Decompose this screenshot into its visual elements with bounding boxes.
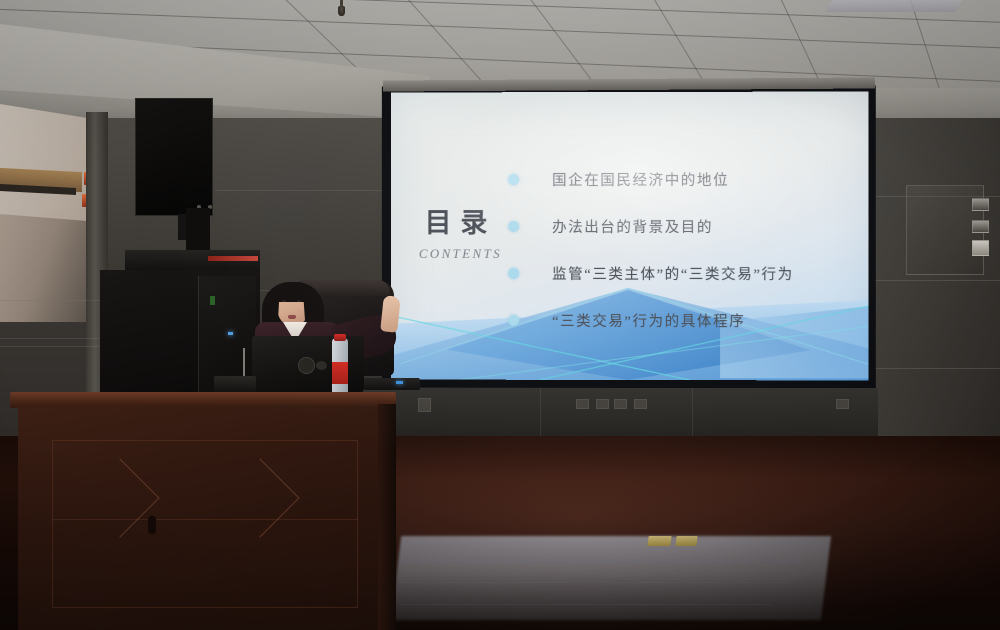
av-rack-top (125, 250, 260, 272)
bullet-dot-icon (508, 315, 519, 326)
power-led-icon (210, 296, 215, 305)
wall-outlet-plate[interactable] (972, 240, 989, 256)
podium-side (378, 404, 396, 630)
list-item: “三类交易”行为的具体程序 (508, 297, 869, 344)
slide-heading-cn: 目录 (413, 210, 509, 237)
right-wall (874, 118, 1000, 436)
bullet-dot-icon (508, 174, 519, 185)
status-led-icon (228, 332, 233, 335)
speaker-bracket (178, 214, 186, 240)
sprinkler-head-icon (338, 6, 345, 16)
wall-mounted-speaker (135, 98, 213, 216)
projected-slide: 目录 CONTENTS 国企在国民经济中的地位 办法出台的背景及目的 监管“三类… (391, 92, 869, 381)
wall-switch-panel[interactable] (972, 220, 989, 233)
hanging-cloth (186, 208, 210, 250)
wall-seam (874, 368, 1000, 369)
water-bottle-cap (334, 334, 346, 341)
list-item: 办法出台的背景及目的 (508, 203, 869, 250)
slide-contents-heading: 目录 CONTENTS (413, 210, 509, 262)
wall-seam (874, 280, 1000, 281)
wall-outlet-icon (576, 399, 589, 409)
bullet-dot-icon (508, 221, 519, 232)
slide-bullet-list: 国企在国民经济中的地位 办法出台的背景及目的 监管“三类主体”的“三类交易”行为… (508, 156, 869, 345)
wall-outlet-icon (634, 399, 647, 409)
status-led-icon (396, 381, 403, 384)
podium-lock-icon (148, 516, 156, 534)
bullet-text: “三类交易”行为的具体程序 (552, 310, 745, 331)
wall-outlet-icon (418, 398, 431, 412)
av-control-device[interactable] (214, 376, 256, 392)
laptop-brand-logo-icon (298, 357, 315, 374)
slide-heading-en: CONTENTS (413, 246, 509, 262)
water-bottle-label (332, 362, 348, 384)
presentation-room-photo: 目录 CONTENTS 国企在国民经济中的地位 办法出台的背景及目的 监管“三类… (0, 0, 1000, 630)
bullet-dot-icon (508, 268, 519, 279)
bullet-text: 国企在国民经济中的地位 (552, 169, 729, 190)
av-rack-accent-stripe (208, 256, 258, 261)
wall-outlet-icon (614, 399, 627, 409)
wall-outlet-icon (596, 399, 609, 409)
ceiling-light-panel (826, 0, 965, 12)
wall-seam (0, 338, 110, 339)
wall-switch-panel[interactable] (972, 198, 989, 211)
wall-seam (0, 346, 105, 347)
presenter-eye (297, 300, 301, 302)
av-control-device[interactable] (364, 378, 420, 390)
wall-outlet-icon (836, 399, 849, 409)
bullet-text: 办法出台的背景及目的 (552, 216, 713, 237)
presenter-mouth (288, 315, 296, 319)
presenter-eye (282, 300, 286, 302)
wall-seam (215, 190, 385, 191)
list-item: 国企在国民经济中的地位 (508, 156, 869, 203)
laptop-brand-logo-icon (316, 361, 327, 370)
list-item: 监管“三类主体”的“三类交易”行为 (508, 250, 869, 297)
bullet-text: 监管“三类主体”的“三类交易”行为 (552, 263, 794, 284)
